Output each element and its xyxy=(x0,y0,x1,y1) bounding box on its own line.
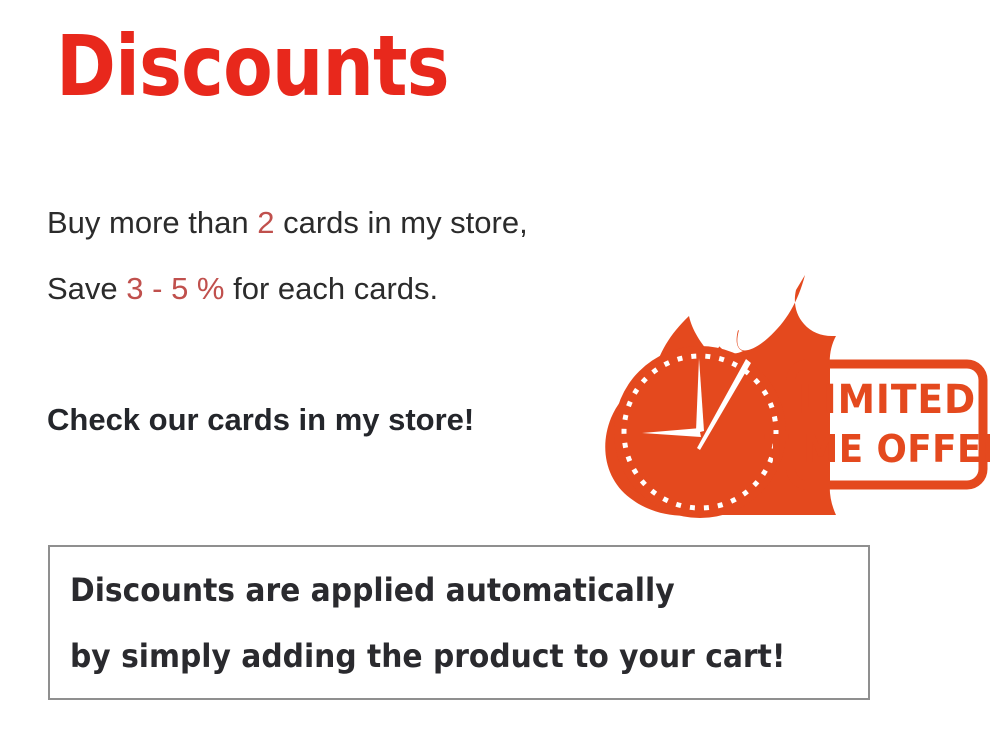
minimum-quantity-value: 2 xyxy=(257,205,274,240)
limited-time-offer-badge: LIMITED TIME OFFER xyxy=(600,272,990,522)
offer-line-1-suffix: cards in my store, xyxy=(274,205,527,240)
offer-line-2-prefix: Save xyxy=(47,271,126,306)
flame-notch xyxy=(715,296,743,353)
notice-line-2: by simply adding the product to your car… xyxy=(70,637,785,675)
notice-box: Discounts are applied automatically by s… xyxy=(48,545,870,700)
offer-line-1: Buy more than 2 cards in my store, xyxy=(47,205,528,241)
badge-line-1: LIMITED xyxy=(798,377,976,423)
badge-line-2: TIME OFFER xyxy=(764,427,990,471)
discount-range-value: 3 - 5 % xyxy=(126,271,224,306)
offer-line-2: Save 3 - 5 % for each cards. xyxy=(47,271,438,307)
store-cta-text: Check our cards in my store! xyxy=(47,402,474,438)
notice-line-1: Discounts are applied automatically xyxy=(70,571,675,609)
flame-clock-icon: LIMITED TIME OFFER xyxy=(600,272,990,522)
offer-line-2-suffix: for each cards. xyxy=(225,271,439,306)
promo-banner: Discounts Buy more than 2 cards in my st… xyxy=(0,0,1000,755)
page-title: Discounts xyxy=(56,18,449,114)
offer-line-1-prefix: Buy more than xyxy=(47,205,257,240)
